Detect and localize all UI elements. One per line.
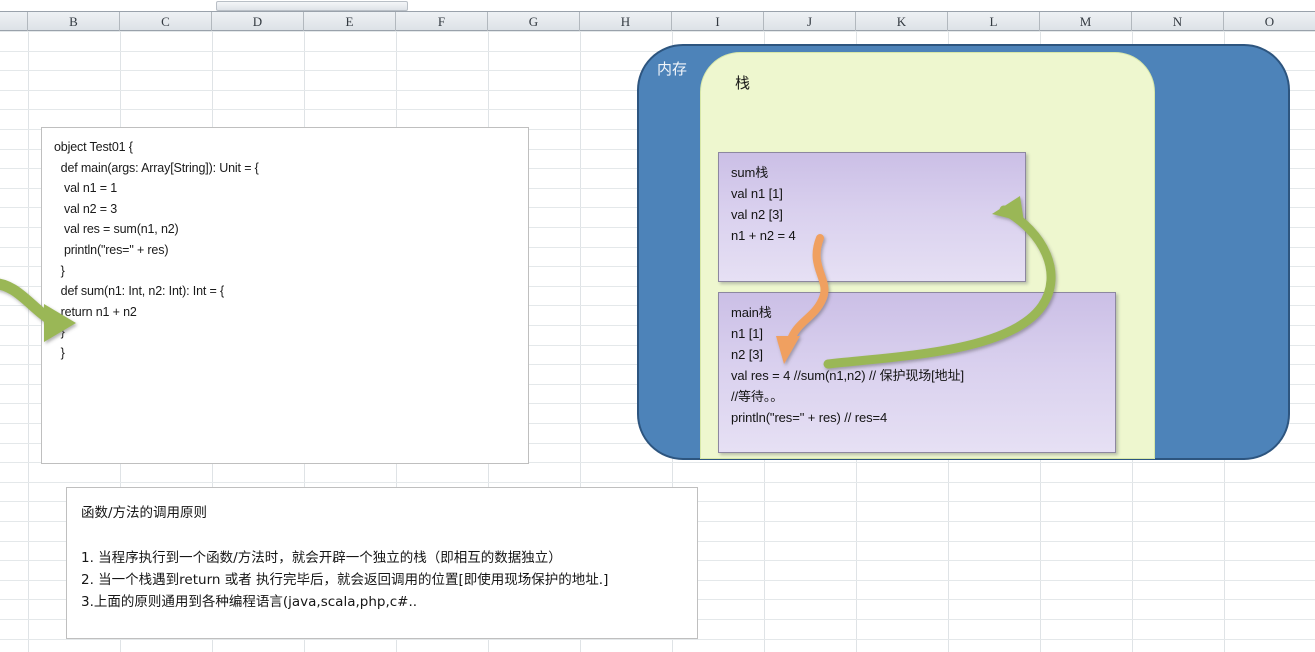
sum-frame-line: val n1 [1] [731,183,1025,204]
column-header-E[interactable]: E [304,12,396,31]
code-line: val n2 = 3 [54,199,528,220]
main-frame-line: //等待。。 [731,386,1115,407]
code-line: def sum(n1: Int, n2: Int): Int = { [54,281,528,302]
column-header-O[interactable]: O [1224,12,1315,31]
column-header-N[interactable]: N [1132,12,1224,31]
code-line: return n1 + n2 [54,302,528,323]
code-line: def main(args: Array[String]): Unit = { [54,158,528,179]
main-frame-line: main栈 [731,302,1115,323]
scala-code-textbox[interactable]: object Test01 { def main(args: Array[Str… [41,127,529,464]
scrollbar-thumb[interactable] [216,1,408,11]
column-header-B[interactable]: B [28,12,120,31]
main-stack-frame[interactable]: main栈n1 [1]n2 [3]val res = 4 //sum(n1,n2… [718,292,1116,453]
code-line: } [54,343,528,364]
column-header-H[interactable]: H [580,12,672,31]
code-line: println("res=" + res) [54,240,528,261]
rule-line: 1. 当程序执行到一个函数/方法时，就会开辟一个独立的栈（即相互的数据独立） [81,547,697,569]
call-principles-textbox[interactable]: 函数/方法的调用原则 1. 当程序执行到一个函数/方法时，就会开辟一个独立的栈（… [66,487,698,639]
column-header-F[interactable]: F [396,12,488,31]
column-header-row: BCDEFGHIJKLMNO [0,11,1315,31]
select-all-corner[interactable] [0,12,28,31]
main-frame-line: n1 [1] [731,323,1115,344]
spreadsheet-canvas: BCDEFGHIJKLMNO object Test01 { def main(… [0,0,1315,652]
rule-line: 2. 当一个栈遇到return 或者 执行完毕后，就会返回调用的位置[即使用现场… [81,569,697,591]
main-frame-line: val res = 4 //sum(n1,n2) // 保护现场[地址] [731,365,1115,386]
sum-frame-line: sum栈 [731,162,1025,183]
sum-stack-frame[interactable]: sum栈val n1 [1]val n2 [3]n1 + n2 = 4 [718,152,1026,282]
grid-hline [0,31,1315,32]
stack-label: 栈 [735,72,750,93]
code-line: } [54,261,528,282]
sum-frame-line: val n2 [3] [731,204,1025,225]
rules-title: 函数/方法的调用原则 [81,501,697,521]
column-header-I[interactable]: I [672,12,764,31]
column-header-M[interactable]: M [1040,12,1132,31]
grid-hline [0,639,1315,640]
code-line: val n1 = 1 [54,178,528,199]
main-frame-line: n2 [3] [731,344,1115,365]
sum-frame-line: n1 + n2 = 4 [731,225,1025,246]
code-line: val res = sum(n1, n2) [54,219,528,240]
memory-label: 内存 [657,58,727,79]
row-header-strip [0,31,29,652]
rule-line: 3.上面的原则通用到各种编程语言(java,scala,php,c#.. [81,591,697,613]
column-header-J[interactable]: J [764,12,856,31]
rules-list: 1. 当程序执行到一个函数/方法时，就会开辟一个独立的栈（即相互的数据独立）2.… [81,547,697,613]
column-header-D[interactable]: D [212,12,304,31]
code-line: } [54,322,528,343]
code-line: object Test01 { [54,137,528,158]
column-header-L[interactable]: L [948,12,1040,31]
grid-hline [0,482,1315,483]
column-header-K[interactable]: K [856,12,948,31]
column-header-C[interactable]: C [120,12,212,31]
main-frame-line: println("res=" + res) // res=4 [731,407,1115,428]
column-header-G[interactable]: G [488,12,580,31]
grid-vline [28,31,29,652]
